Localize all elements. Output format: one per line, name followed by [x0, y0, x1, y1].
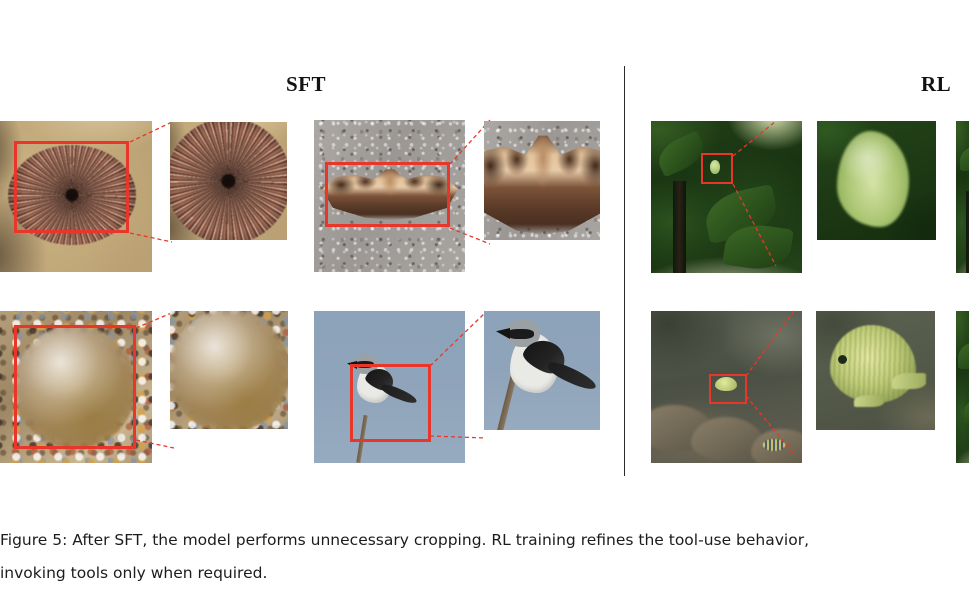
crop-photo-shrike [484, 311, 600, 430]
figure-caption: Figure 5: After SFT, the model performs … [0, 524, 969, 590]
crop-photo-insect [817, 121, 936, 240]
crop-photo-fish [816, 311, 935, 430]
source-photo-rl-row1-partial [956, 121, 969, 273]
source-photo-fish-underwater [651, 311, 802, 463]
source-photo-mottled-shell [0, 311, 152, 463]
column-header-sft: SFT [286, 72, 326, 97]
column-header-rl: RL [921, 72, 951, 97]
figure-caption-line-2: invoking tools only when required. [0, 557, 969, 590]
source-photo-moth [314, 120, 465, 272]
source-photo-rl-row2-partial [956, 311, 969, 463]
crop-photo-moth [484, 121, 600, 240]
crop-photo-mottled-shell [170, 311, 288, 429]
crop-photo-sea-urchin [170, 122, 287, 240]
figure-5: SFT RL [0, 0, 969, 606]
column-divider [624, 66, 625, 476]
source-photo-shrike [314, 311, 465, 463]
figure-caption-line-1: Figure 5: After SFT, the model performs … [0, 524, 969, 557]
source-photo-insect-leaf [651, 121, 802, 273]
source-photo-sea-urchin [0, 121, 152, 272]
